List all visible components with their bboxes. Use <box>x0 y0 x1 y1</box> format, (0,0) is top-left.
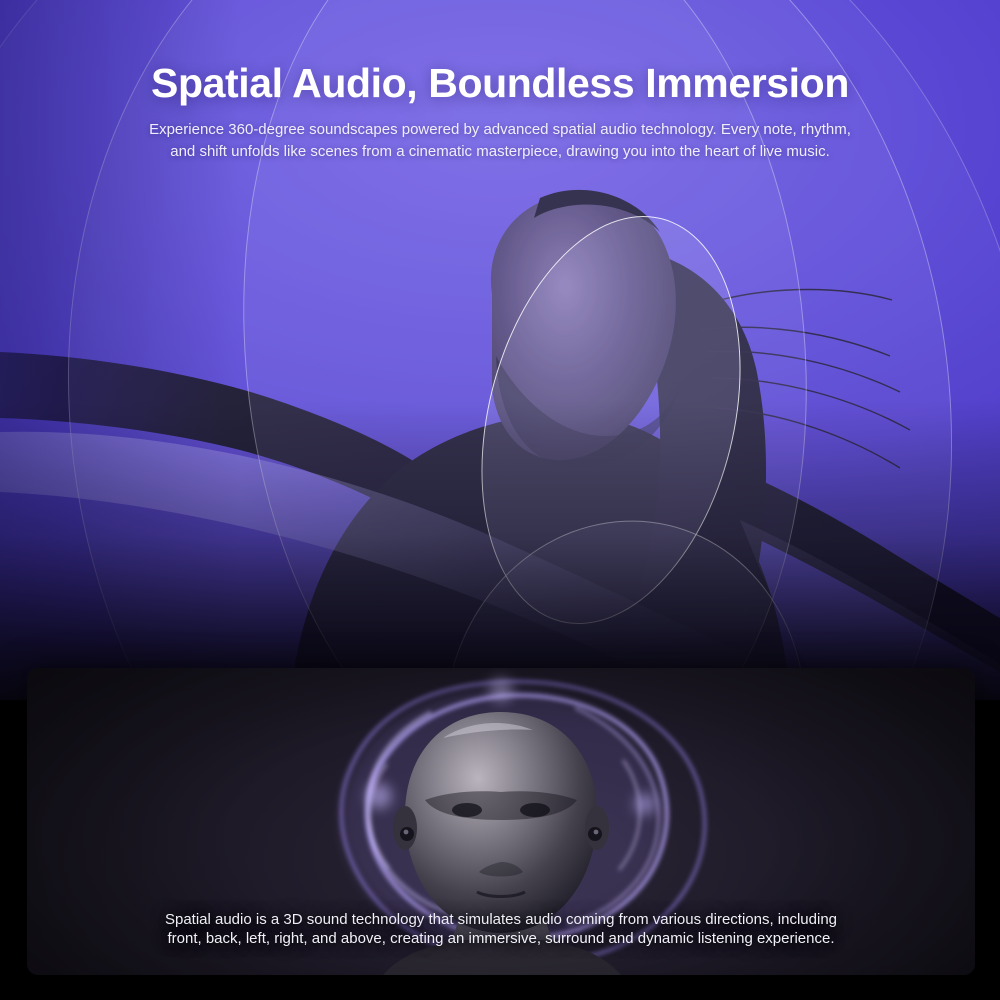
spatial-audio-promo-page: Spatial Audio, Boundless Immersion Exper… <box>0 0 1000 1000</box>
hero-text-block: Spatial Audio, Boundless Immersion Exper… <box>0 62 1000 163</box>
hero-section: Spatial Audio, Boundless Immersion Exper… <box>0 0 1000 700</box>
hero-subtitle-line-1: Experience 360-degree soundscapes powere… <box>0 119 1000 141</box>
panel-caption-line-2: front, back, left, right, and above, cre… <box>27 929 975 948</box>
panel-caption-line-1: Spatial audio is a 3D sound technology t… <box>27 910 975 929</box>
hero-subtitle: Experience 360-degree soundscapes powere… <box>0 119 1000 163</box>
spatial-audio-demo-panel: Spatial audio is a 3D sound technology t… <box>27 668 975 975</box>
page-title: Spatial Audio, Boundless Immersion <box>0 62 1000 105</box>
hero-subtitle-line-2: and shift unfolds like scenes from a cin… <box>0 141 1000 163</box>
hero-bottom-gradient <box>0 400 1000 700</box>
panel-caption: Spatial audio is a 3D sound technology t… <box>27 910 975 948</box>
page-floor <box>0 975 1000 1000</box>
